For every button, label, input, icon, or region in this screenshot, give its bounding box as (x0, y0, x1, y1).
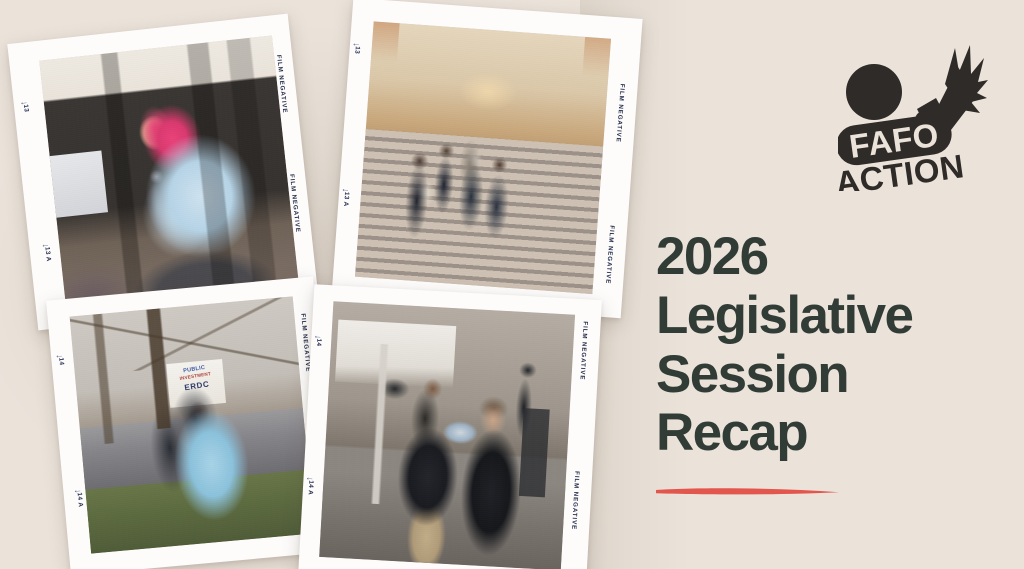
fafo-action-logo[interactable]: FAFO ACTION (838, 36, 988, 191)
photo-1-image-plate (39, 35, 298, 307)
photo-3-image-plate: PUBLIC INVESTMENT ERDC (70, 296, 315, 553)
photo-4-image-plate (319, 301, 575, 569)
frame-mark-13: 13 (353, 46, 361, 54)
photo-3-image: PUBLIC INVESTMENT ERDC (70, 296, 315, 553)
photo-card-4[interactable]: ↓ 14 ↓ 14 A FILM NEGATIVE FILM NEGATIVE (298, 284, 602, 569)
frame-mark-13a: 13 A (342, 192, 350, 207)
sign-line-2: INVESTMENT (169, 370, 221, 385)
film-negative-label: FILM NEGATIVE (604, 225, 615, 284)
headline-underline (655, 486, 841, 498)
film-negative-label: FILM NEGATIVE (570, 471, 580, 530)
headline-line-3: Session (656, 346, 1006, 405)
sign-line-1: PUBLIC (168, 361, 221, 378)
headline-line-2: Legislative (656, 287, 1006, 346)
photo-card-2[interactable]: ↓ 13 ↓ 13 A FILM NEGATIVE FILM NEGATIVE (331, 0, 642, 318)
film-negative-label: FILM NEGATIVE (614, 83, 625, 142)
poster-canvas: ↓ 13 ↓ 13 A FILM NEGATIVE FILM NEGATIVE … (0, 0, 1024, 569)
frame-mark-14: 14 (57, 357, 65, 366)
sign-line-3: ERDC (170, 377, 223, 397)
frame-mark-14: 14 (315, 338, 322, 346)
photo-1-image (39, 35, 298, 307)
person-head-icon (846, 64, 902, 120)
protest-sign-text: PUBLIC INVESTMENT ERDC (168, 361, 224, 396)
photo-card-3[interactable]: PUBLIC INVESTMENT ERDC ↓ 14 ↓ 14 A FILM … (46, 276, 338, 569)
headline-line-4: Recap (656, 404, 1006, 463)
frame-mark-14a: 14 A (307, 480, 315, 495)
photo-2-image (355, 21, 611, 294)
photo-2-image-plate (355, 21, 611, 294)
underline-stroke (656, 488, 839, 494)
film-negative-label: FILM NEGATIVE (578, 321, 588, 380)
frame-mark-14a: 14 A (76, 492, 84, 507)
frame-mark-13: 13 (22, 104, 30, 113)
photo-4-image (319, 301, 575, 569)
frame-mark-13a: 13 A (43, 247, 52, 263)
page-title: 2026 Legislative Session Recap (656, 228, 1006, 463)
headline-line-1: 2026 (656, 228, 1006, 287)
